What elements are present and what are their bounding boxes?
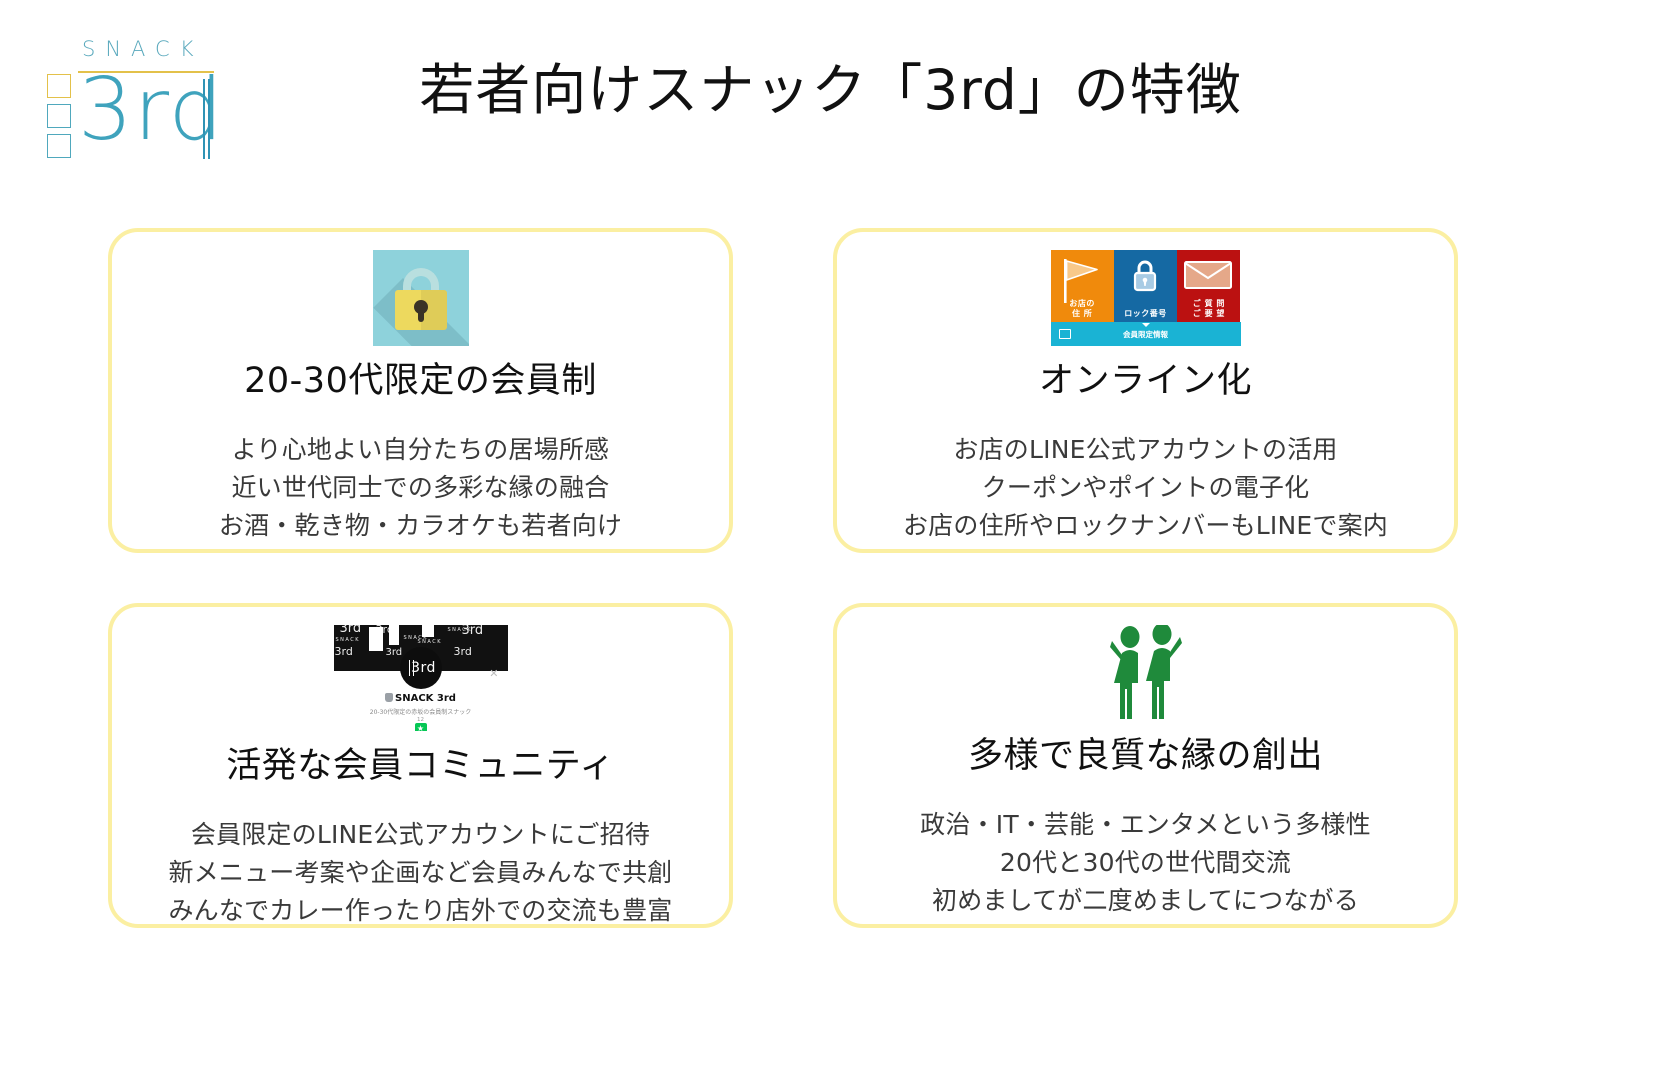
rich-menu-label: ロック番号 (1124, 309, 1167, 319)
feature-card-community: 3rd 3rd 3rd SNACK SNACK SNACK SNACK 3rd … (108, 603, 733, 928)
card-body: 会員限定のLINE公式アカウントにご招待 新メニュー考案や企画など会員みんなで共… (168, 816, 672, 930)
page-title: 若者向けスナック「3rd」の特徴 (0, 55, 1661, 125)
feature-card-connections: 多様で良質な縁の創出 政治・IT・芸能・エンタメという多様性 20代と30代の世… (833, 603, 1458, 928)
rich-menu-tile-locknumber: ロック番号 (1114, 250, 1177, 322)
logo-square-teal-2 (47, 134, 71, 158)
avatar: 3rd (400, 647, 442, 689)
card-line: より心地よい自分たちの居場所感 (219, 431, 622, 469)
card-line: 近い世代同士での多彩な縁の融合 (219, 469, 622, 507)
card-body: より心地よい自分たちの居場所感 近い世代同士での多彩な縁の融合 お酒・乾き物・カ… (219, 431, 622, 545)
feature-card-online: お店の 住 所 ロック番号 (833, 228, 1458, 553)
card-line: みんなでカレー作ったり店外での交流も豊富 (168, 892, 672, 930)
rich-menu-footer: 会員限定情報 (1051, 322, 1241, 346)
keypad-icon (1059, 329, 1071, 339)
card-title: オンライン化 (1039, 356, 1252, 406)
card-line: 会員限定のLINE公式アカウントにご招待 (168, 816, 672, 854)
card-line: 20代と30代の世代間交流 (920, 844, 1371, 882)
card-line: クーポンやポイントの電子化 (903, 469, 1388, 507)
rich-menu-tile-address: お店の 住 所 (1051, 250, 1114, 322)
card-line: お店の住所やロックナンバーもLINEで案内 (903, 507, 1388, 545)
profile-description: 20-30代限定の赤坂の会員制スナック (334, 707, 508, 716)
line-profile-image: 3rd 3rd 3rd SNACK SNACK SNACK SNACK 3rd … (334, 625, 508, 731)
rich-menu-footer-label: 会員限定情報 (1123, 329, 1168, 340)
card-title: 20-30代限定の会員制 (244, 356, 597, 406)
rich-menu-label: 住 所 (1072, 309, 1092, 319)
star-icon[interactable]: ★ (415, 723, 427, 731)
card-line: お酒・乾き物・カラオケも若者向け (219, 507, 622, 545)
card-title: 活発な会員コミュニティ (226, 741, 614, 791)
envelope-icon (1182, 258, 1234, 292)
profile-account-name: SNACK 3rd (334, 693, 508, 704)
lock-icon (373, 250, 469, 346)
verified-badge-icon (385, 693, 393, 702)
card-visual: お店の 住 所 ロック番号 (1051, 250, 1241, 346)
close-icon[interactable]: ✕ (489, 669, 498, 680)
lock-icon (1131, 256, 1159, 300)
card-visual: 3rd 3rd 3rd SNACK SNACK SNACK SNACK 3rd … (334, 625, 508, 731)
rich-menu-tile-inquiry: ご 質 問 ご 要 望 (1177, 250, 1240, 322)
two-people-cheering-icon (1100, 625, 1192, 721)
card-line: 新メニュー考案や企画など会員みんなで共創 (168, 854, 672, 892)
card-line: 政治・IT・芸能・エンタメという多様性 (920, 806, 1371, 844)
card-visual (1100, 625, 1192, 721)
caret-up-icon (1142, 323, 1150, 327)
feature-card-membership: 20-30代限定の会員制 より心地よい自分たちの居場所感 近い世代同士での多彩な… (108, 228, 733, 553)
feature-card-grid: 20-30代限定の会員制 より心地よい自分たちの居場所感 近い世代同士での多彩な… (108, 228, 1458, 928)
card-title: 多様で良質な縁の創出 (968, 731, 1323, 781)
lock-keyhole (414, 300, 428, 314)
card-body: お店のLINE公式アカウントの活用 クーポンやポイントの電子化 お店の住所やロッ… (903, 431, 1388, 545)
rich-menu-label: ご 質 問 (1193, 299, 1225, 309)
card-body: 政治・IT・芸能・エンタメという多様性 20代と30代の世代間交流 初めましてが… (920, 806, 1371, 920)
card-line: お店のLINE公式アカウントの活用 (903, 431, 1388, 469)
line-rich-menu-image: お店の 住 所 ロック番号 (1051, 250, 1241, 346)
card-visual (373, 250, 469, 346)
card-line: 初めましてが二度めましてにつながる (920, 882, 1371, 920)
rich-menu-label: お店の (1069, 299, 1095, 309)
rich-menu-tiles: お店の 住 所 ロック番号 (1051, 250, 1241, 322)
rich-menu-label: ご 要 望 (1193, 309, 1225, 319)
